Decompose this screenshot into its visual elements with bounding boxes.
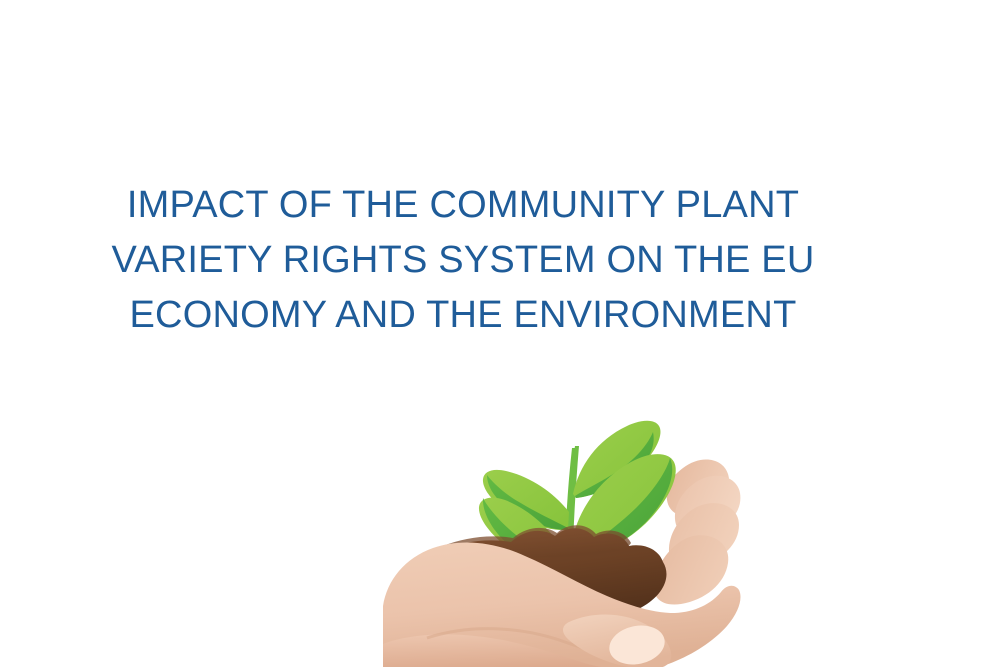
title-line-2: VARIETY RIGHTS SYSTEM ON THE EU — [0, 233, 926, 288]
seedling-in-hand-graphic — [383, 408, 743, 667]
page-title: IMPACT OF THE COMMUNITY PLANT VARIETY RI… — [0, 178, 926, 343]
watermark: www.e — [898, 0, 928, 114]
title-line-3: ECONOMY AND THE ENVIRONMENT — [0, 288, 926, 343]
title-line-1: IMPACT OF THE COMMUNITY PLANT — [0, 178, 926, 233]
cover-page: www.e IMPACT OF THE COMMUNITY PLANT VARI… — [0, 0, 1000, 667]
hand-holding-seedling-illustration — [383, 408, 743, 667]
